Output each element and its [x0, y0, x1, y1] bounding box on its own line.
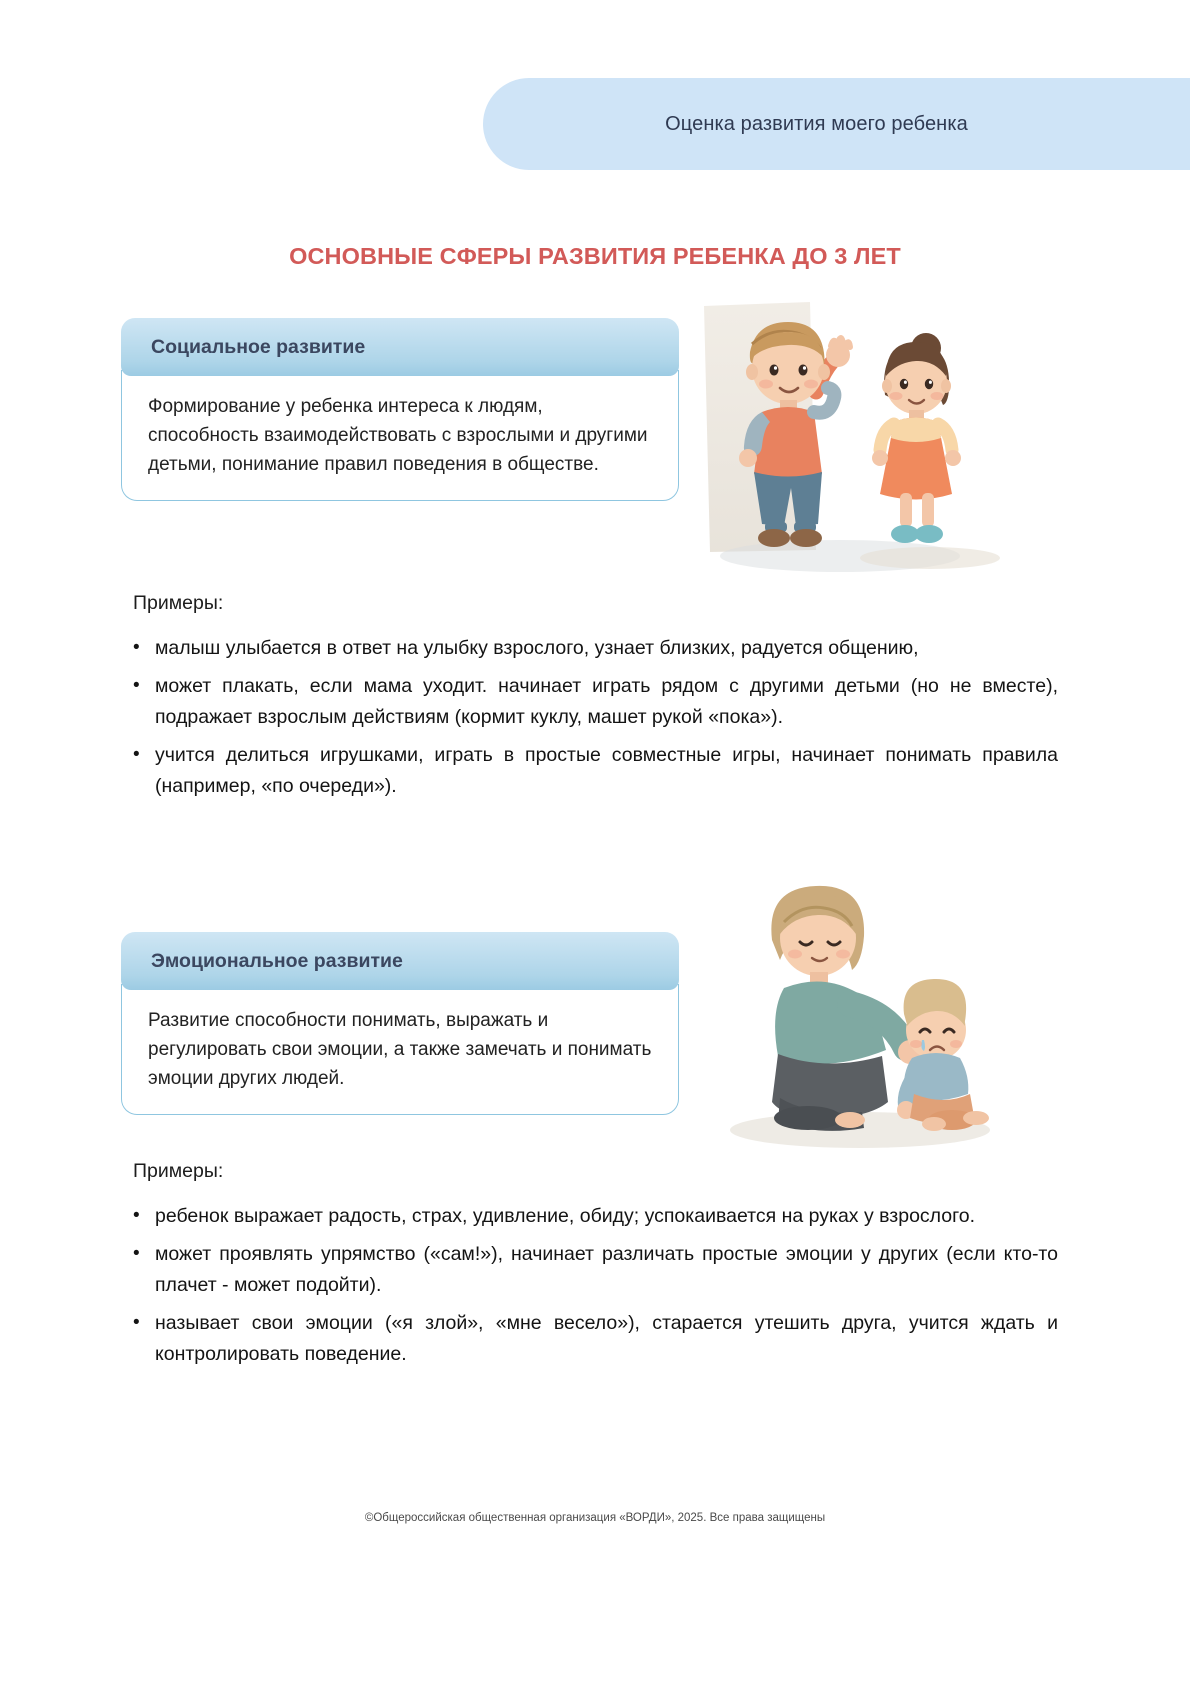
bullet-icon: •: [133, 1201, 155, 1232]
bullet-icon: •: [133, 1308, 155, 1339]
examples-block-social: Примеры: • малыш улыбается в ответ на ул…: [133, 592, 1058, 809]
bullet-icon: •: [133, 740, 155, 771]
card-body-emotional: Развитие способности понимать, выражать …: [121, 984, 679, 1115]
section-card-social: Социальное развитие Формирование у ребен…: [121, 318, 679, 501]
list-item: • может проявлять упрямство («сам!»), на…: [133, 1239, 1058, 1302]
example-text: учится делиться игрушками, играть в прос…: [155, 740, 1058, 803]
card-body-text-social: Формирование у ребенка интереса к людям,…: [148, 393, 652, 480]
list-item: • учится делиться игрушками, играть в пр…: [133, 740, 1058, 803]
header-title: Оценка развития моего ребенка: [665, 113, 968, 136]
card-title-social: Социальное развитие: [151, 336, 365, 359]
example-text: ребенок выражает радость, страх, удивлен…: [155, 1201, 1058, 1233]
section-card-emotional: Эмоциональное развитие Развитие способно…: [121, 932, 679, 1115]
list-item: • может плакать, если мама уходит. начин…: [133, 671, 1058, 734]
examples-block-emotional: Примеры: • ребенок выражает радость, стр…: [133, 1160, 1058, 1377]
adult-comforting-child-illustration: [700, 862, 1020, 1162]
card-body-text-emotional: Развитие способности понимать, выражать …: [148, 1007, 652, 1094]
card-header-emotional: Эмоциональное развитие: [121, 932, 679, 990]
examples-label-emotional: Примеры:: [133, 1160, 1058, 1183]
header-banner: Оценка развития моего ребенка: [483, 78, 1190, 170]
bullet-icon: •: [133, 633, 155, 664]
list-item: • ребенок выражает радость, страх, удивл…: [133, 1201, 1058, 1233]
two-children-waving-illustration: [690, 300, 1010, 590]
examples-list-social: • малыш улыбается в ответ на улыбку взро…: [133, 633, 1058, 803]
card-title-emotional: Эмоциональное развитие: [151, 950, 403, 973]
example-text: называет свои эмоции («я злой», «мне вес…: [155, 1308, 1058, 1371]
examples-label-social: Примеры:: [133, 592, 1058, 615]
list-item: • называет свои эмоции («я злой», «мне в…: [133, 1308, 1058, 1371]
bullet-icon: •: [133, 1239, 155, 1270]
page-title: ОСНОВНЫЕ СФЕРЫ РАЗВИТИЯ РЕБЕНКА ДО 3 ЛЕТ: [0, 243, 1190, 270]
card-header-social: Социальное развитие: [121, 318, 679, 376]
examples-list-emotional: • ребенок выражает радость, страх, удивл…: [133, 1201, 1058, 1371]
example-text: может проявлять упрямство («сам!»), начи…: [155, 1239, 1058, 1302]
card-body-social: Формирование у ребенка интереса к людям,…: [121, 370, 679, 501]
footer-copyright: ©Общероссийская общественная организация…: [0, 1512, 1190, 1524]
example-text: малыш улыбается в ответ на улыбку взросл…: [155, 633, 1058, 665]
bullet-icon: •: [133, 671, 155, 702]
list-item: • малыш улыбается в ответ на улыбку взро…: [133, 633, 1058, 665]
example-text: может плакать, если мама уходит. начинае…: [155, 671, 1058, 734]
